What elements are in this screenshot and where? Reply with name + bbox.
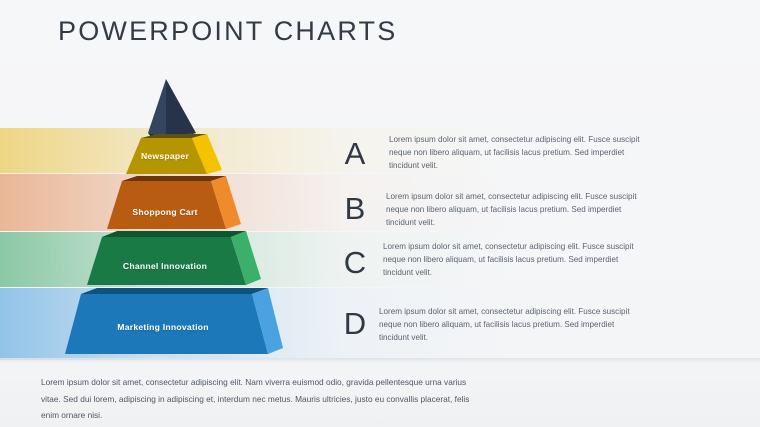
description-d: Lorem ipsum dolor sit amet, consectetur …	[379, 305, 631, 344]
description-c: Lorem ipsum dolor sit amet, consectetur …	[383, 240, 635, 279]
tier-label-marketing-innovation: Marketing Innovation	[46, 322, 280, 332]
footer-text: Lorem ipsum dolor sit amet, consectetur …	[41, 374, 471, 424]
description-b: Lorem ipsum dolor sit amet, consectetur …	[386, 190, 638, 229]
tier-label-shopping-cart: Shoppong Cart	[92, 207, 238, 217]
pyramid-svg	[0, 0, 340, 360]
letter-marker-b: B	[338, 193, 372, 224]
tier-label-newspaper: Newspaper	[110, 151, 220, 161]
pyramid-tier-channel-innovation[interactable]	[87, 231, 261, 285]
pyramid-diagram[interactable]: Newspaper Shoppong Cart Channel Innovati…	[0, 0, 340, 360]
letter-marker-d: D	[338, 308, 372, 339]
pyramid-tier-marketing-innovation[interactable]	[65, 288, 283, 354]
letter-marker-c: C	[338, 247, 372, 278]
slide-canvas: POWERPOINT CHARTS	[0, 0, 760, 427]
description-a: Lorem ipsum dolor sit amet, consectetur …	[389, 133, 641, 172]
section-divider	[0, 358, 760, 366]
pyramid-apex[interactable]	[148, 79, 196, 139]
tier-label-channel-innovation: Channel Innovation	[70, 261, 260, 271]
pyramid-tier-shopping-cart[interactable]	[107, 176, 241, 229]
letter-marker-a: A	[338, 138, 372, 169]
